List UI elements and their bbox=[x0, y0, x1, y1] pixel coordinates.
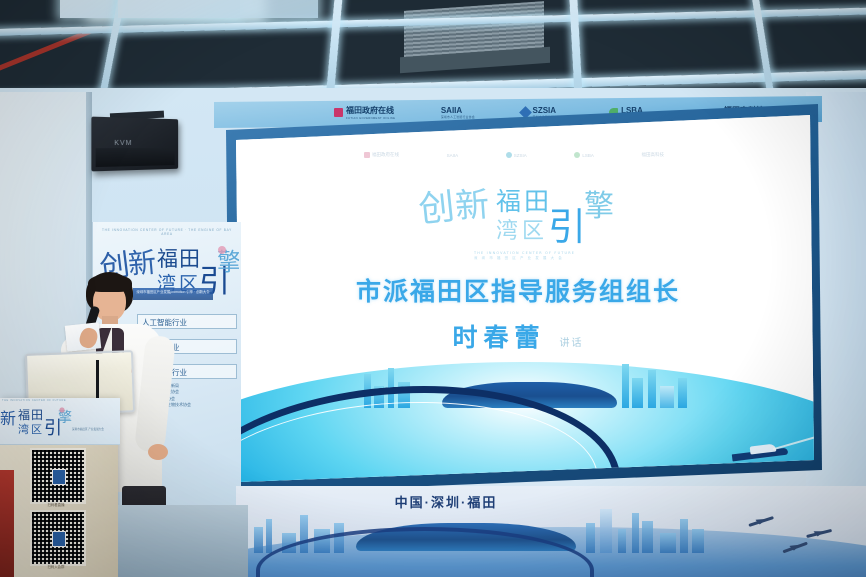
callig-char-5: 区 bbox=[522, 219, 544, 244]
slide-header-logos: 福田政府在线 SAIIA SZSIA LSBA 福田高科技 bbox=[364, 146, 664, 164]
slide-speaker-line: 时春蕾讲话 bbox=[214, 318, 822, 354]
podium-banner: THE INNOVATION CENTER OF FUTURE 创 新 福 田 … bbox=[0, 398, 120, 445]
conference-photo: KVM 福田政府在线 FUTIAN GOVERNMENT ONLINE SAII… bbox=[0, 0, 866, 577]
podium-english-tagline: THE INNOVATION CENTER OF FUTURE bbox=[2, 399, 114, 402]
callig-char-0: 创 bbox=[417, 186, 457, 231]
slide-logo-name-3: LSBA bbox=[582, 153, 594, 158]
speaker-brand-label: KVM bbox=[114, 140, 132, 147]
callig-char-3: 田 bbox=[524, 187, 549, 216]
led-screen: 福田政府在线 SAIIA SZSIA LSBA 福田高科技 bbox=[214, 104, 822, 494]
red-stand bbox=[0, 470, 14, 577]
qr-code bbox=[30, 448, 86, 504]
qr-code bbox=[30, 510, 86, 566]
svg-text:擎: 擎 bbox=[58, 410, 72, 426]
slide-logo-name-1: SAIIA bbox=[447, 153, 459, 158]
slide-logo-name-0: 福田政府在线 bbox=[372, 152, 399, 158]
svg-text:THE INNOVATION CENTER OF FUTUR: THE INNOVATION CENTER OF FUTURE bbox=[473, 251, 575, 255]
svg-text:福: 福 bbox=[18, 407, 30, 422]
slide-logo-name-4: 福田高科技 bbox=[641, 152, 664, 158]
stage-backdrop: 中国·深圳·福田 bbox=[236, 486, 866, 577]
callig-char-4: 湾 bbox=[496, 219, 518, 244]
banner-english-tagline: THE INNOVATION CENTER OF FUTURE · THE EN… bbox=[99, 228, 235, 236]
slide-logo-2: SZSIA bbox=[506, 152, 527, 158]
callig-char-7: 擎 bbox=[584, 189, 614, 224]
qr-caption-1: 扫码入会群 bbox=[30, 564, 82, 569]
ceiling-speaker: KVM bbox=[91, 117, 178, 172]
slide-logo-4: 福田高科技 bbox=[641, 152, 664, 158]
slide-logo-1: SAIIA bbox=[447, 153, 459, 158]
svg-text:深 圳 市 福 田 区 产 业 发 展 大 会: 深 圳 市 福 田 区 产 业 发 展 大 会 bbox=[474, 255, 563, 260]
svg-text:湾: 湾 bbox=[18, 422, 29, 436]
podium-calligraphy: 创 新 福 田 湾 区 引 擎 bbox=[0, 404, 108, 438]
slide-title: 市派福田区指导服务组组长 bbox=[214, 272, 822, 308]
svg-text:区: 区 bbox=[31, 423, 42, 436]
svg-text:田: 田 bbox=[179, 247, 200, 271]
floor bbox=[118, 505, 248, 577]
svg-text:新: 新 bbox=[0, 409, 16, 428]
screen-surface: 福田政府在线 SAIIA SZSIA LSBA 福田高科技 bbox=[214, 104, 822, 494]
podium-subtitle: 深圳市福田区 产业发展大会 bbox=[72, 428, 104, 432]
speaker-grill bbox=[96, 148, 175, 167]
qr-caption-0: 扫码看直播 bbox=[30, 502, 82, 507]
hair-fringe bbox=[88, 274, 132, 292]
presentation-slide: 福田政府在线 SAIIA SZSIA LSBA 福田高科技 bbox=[214, 104, 822, 494]
callig-char-6: 引 bbox=[548, 205, 586, 249]
svg-text:田: 田 bbox=[31, 408, 43, 422]
svg-text:福: 福 bbox=[157, 247, 178, 271]
callig-char-2: 福 bbox=[496, 187, 521, 216]
right-hand bbox=[148, 444, 168, 460]
callig-char-1: 新 bbox=[454, 185, 491, 227]
slide-speaker-action: 讲话 bbox=[560, 338, 584, 349]
ceiling bbox=[0, 0, 866, 96]
backdrop-caption: 中国·深圳·福田 bbox=[236, 492, 656, 511]
slide-logo-0: 福田政府在线 bbox=[364, 152, 399, 158]
slide-event-calligraphy: 创 新 福 田 湾 区 引 擎 THE INNOVATION CENTER OF… bbox=[414, 176, 624, 262]
square-mark-icon bbox=[364, 152, 370, 158]
diamond-mark-icon bbox=[506, 152, 512, 158]
slide-logo-name-2: SZSIA bbox=[514, 153, 527, 158]
leaf-mark-icon bbox=[574, 152, 580, 158]
slide-speaker-name: 时春蕾 bbox=[452, 324, 545, 352]
slide-logo-3: LSBA bbox=[574, 152, 594, 158]
